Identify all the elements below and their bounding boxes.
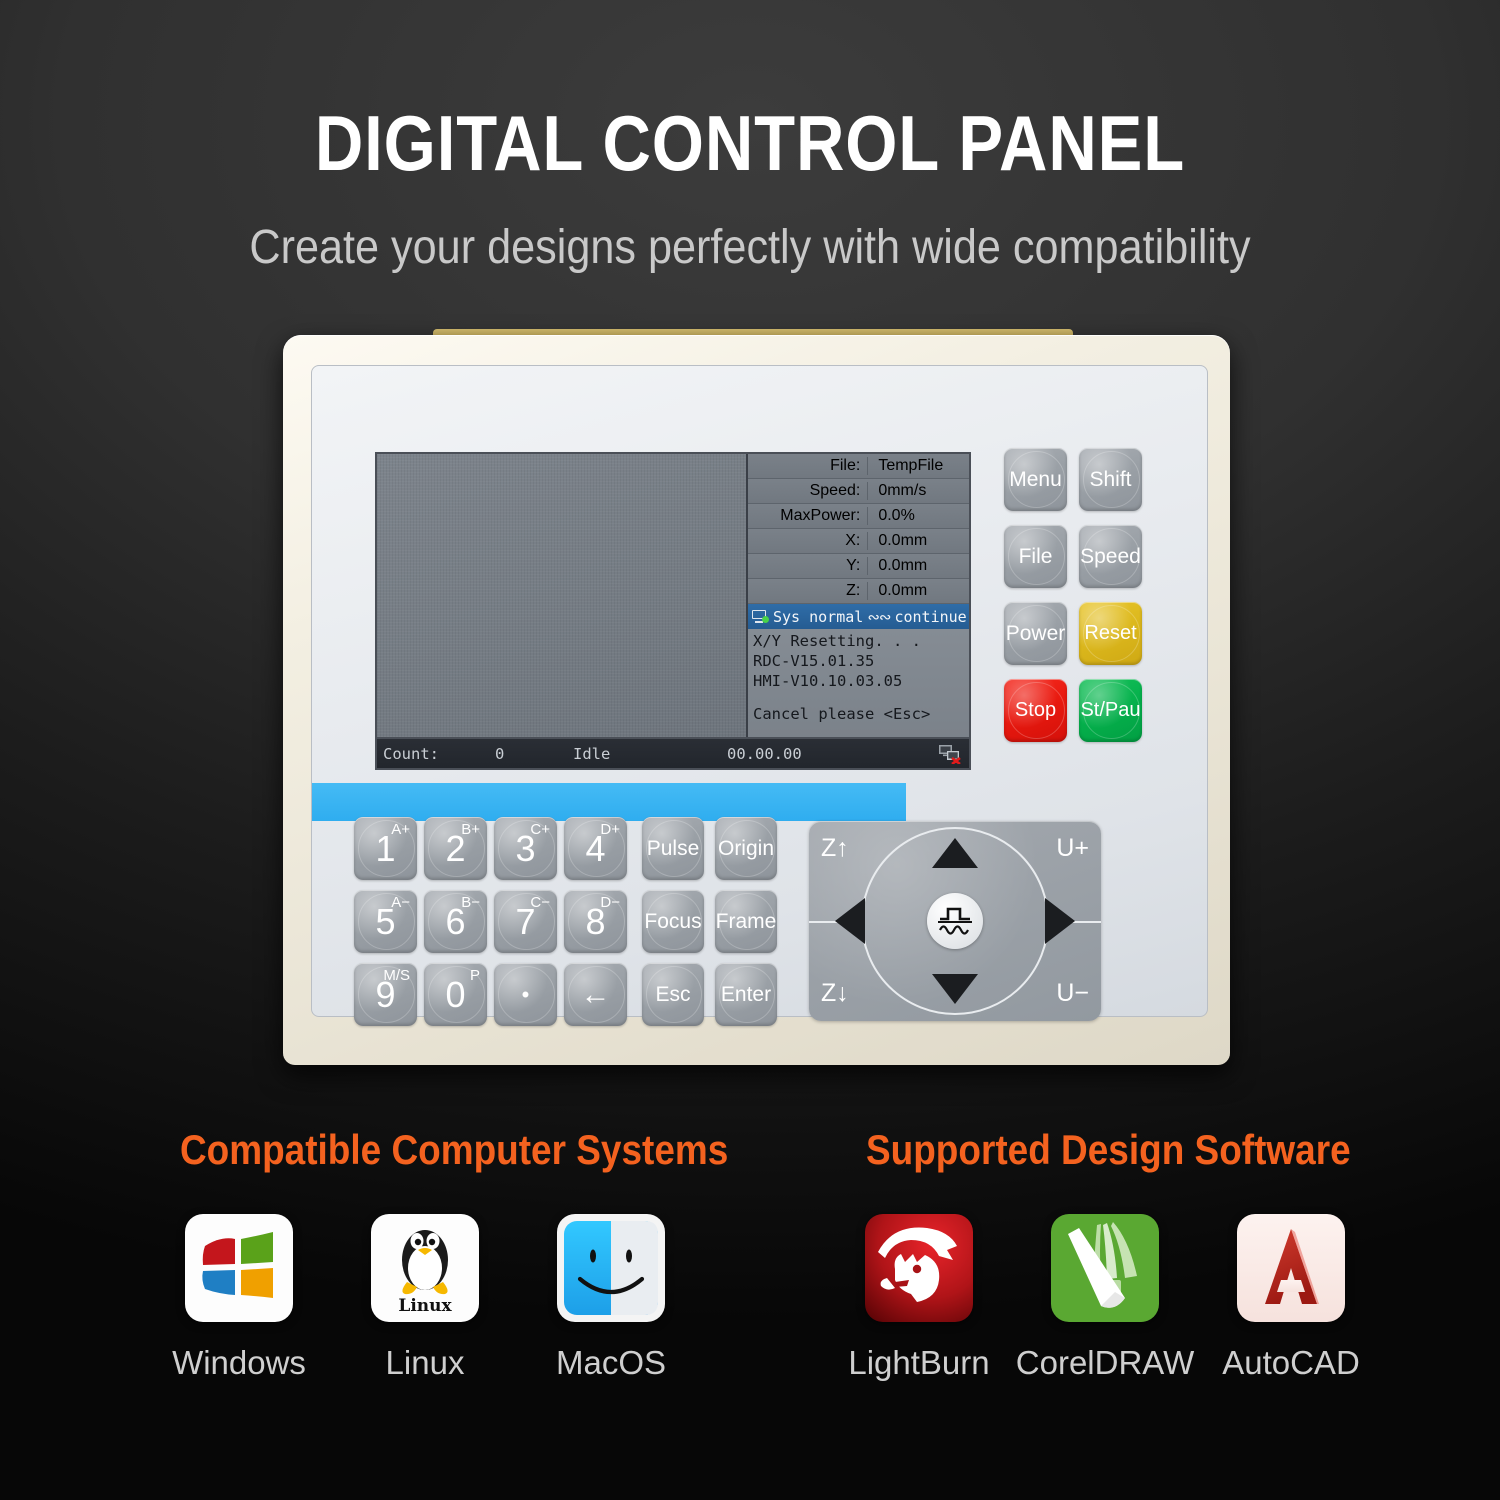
logo-item-linux: Linux Linux xyxy=(332,1214,518,1382)
logo-label: Windows xyxy=(146,1344,332,1382)
page-background: DIGITAL CONTROL PANEL Create your design… xyxy=(0,0,1500,1500)
count-value: 0 xyxy=(495,745,504,763)
key-4[interactable]: 4D+ xyxy=(564,817,627,880)
log-line: X/Y Resetting. . . xyxy=(753,632,969,652)
reset-button[interactable]: Reset xyxy=(1079,602,1142,665)
supported-software-logos: LightBurn CorelDRAW xyxy=(826,1214,1384,1382)
u-minus-button[interactable]: U− xyxy=(1056,979,1089,1008)
file-button[interactable]: File xyxy=(1004,525,1067,588)
info-value-x: 0.0mm xyxy=(867,532,969,550)
lcd-preview-canvas[interactable] xyxy=(377,454,748,737)
pulse-button[interactable]: Pulse xyxy=(642,817,704,880)
start-pause-button[interactable]: St/Pau xyxy=(1079,679,1142,742)
macos-finder-icon xyxy=(557,1214,665,1322)
count-label: Count: xyxy=(383,745,439,763)
logo-label: Linux xyxy=(332,1344,518,1382)
machine-state: Idle xyxy=(573,745,610,763)
arrow-up-button[interactable] xyxy=(932,838,978,868)
section-title-software: Supported Design Software xyxy=(866,1126,1306,1174)
lightburn-dragon-icon xyxy=(865,1214,973,1322)
logo-item-coreldraw: CorelDRAW xyxy=(1012,1214,1198,1382)
lcd-screen: File: TempFile Speed: 0mm/s MaxPower: 0.… xyxy=(375,452,971,770)
logo-item-windows: Windows xyxy=(146,1214,332,1382)
linux-tux-icon: Linux xyxy=(371,1214,479,1322)
key-backspace[interactable]: ← xyxy=(564,963,627,1026)
speed-button[interactable]: Speed xyxy=(1079,525,1142,588)
power-button[interactable]: Power xyxy=(1004,602,1067,665)
pulse-wave-icon[interactable] xyxy=(927,893,983,949)
z-down-button[interactable]: Z↓ xyxy=(821,979,849,1008)
logo-item-macos: MacOS xyxy=(518,1214,704,1382)
info-value-z: 0.0mm xyxy=(867,582,969,600)
info-label-y: Y: xyxy=(748,557,867,575)
info-row: File: TempFile xyxy=(748,454,969,479)
pc-disconnected-icon xyxy=(939,744,961,764)
arrow-down-button[interactable] xyxy=(932,974,978,1004)
autocad-a-icon xyxy=(1237,1214,1345,1322)
key-2[interactable]: 2B+ xyxy=(424,817,487,880)
shift-button[interactable]: Shift xyxy=(1079,448,1142,511)
key-8[interactable]: 8D− xyxy=(564,890,627,953)
elapsed-time: 00.00.00 xyxy=(727,745,802,763)
info-row: X: 0.0mm xyxy=(748,529,969,554)
lcd-status-bar: Count: 0 Idle 00.00.00 xyxy=(377,737,969,768)
logo-item-autocad: AutoCAD xyxy=(1198,1214,1384,1382)
info-row: MaxPower: 0.0% xyxy=(748,504,969,529)
logo-label: MacOS xyxy=(518,1344,704,1382)
page-subtitle: Create your designs perfectly with wide … xyxy=(75,222,1425,275)
info-row: Speed: 0mm/s xyxy=(748,479,969,504)
key-5[interactable]: 5A− xyxy=(354,890,417,953)
info-label-z: Z: xyxy=(748,582,867,600)
info-value-file: TempFile xyxy=(867,457,969,475)
key-0[interactable]: 0P xyxy=(424,963,487,1026)
arrow-right-button[interactable] xyxy=(1045,898,1075,944)
logo-label: AutoCAD xyxy=(1198,1344,1384,1382)
log-area: X/Y Resetting. . . RDC-V15.01.35 HMI-V10… xyxy=(748,629,969,737)
log-line: RDC-V15.01.35 xyxy=(753,652,969,672)
arrow-left-button[interactable] xyxy=(835,898,865,944)
menu-button[interactable]: Menu xyxy=(1004,448,1067,511)
system-status-bar: Sys normal ∾∾ continue xyxy=(748,604,969,629)
frame-button[interactable]: Frame xyxy=(715,890,777,953)
key-3[interactable]: 3C+ xyxy=(494,817,557,880)
u-plus-button[interactable]: U+ xyxy=(1056,834,1089,863)
key-1[interactable]: 1A+ xyxy=(354,817,417,880)
logo-label: LightBurn xyxy=(826,1344,1012,1382)
sys-continue-text: continue xyxy=(894,608,966,626)
device-faceplate: File: TempFile Speed: 0mm/s MaxPower: 0.… xyxy=(311,365,1208,1017)
info-value-speed: 0mm/s xyxy=(867,482,969,500)
control-panel-device: File: TempFile Speed: 0mm/s MaxPower: 0.… xyxy=(283,335,1230,1065)
sys-status-text: Sys normal xyxy=(773,608,863,626)
windows-logo-icon xyxy=(185,1214,293,1322)
info-value-y: 0.0mm xyxy=(867,557,969,575)
info-label-speed: Speed: xyxy=(748,482,867,500)
direction-pad: Z↑ U+ Z↓ U− xyxy=(809,821,1101,1021)
info-label-maxpower: MaxPower: xyxy=(748,507,867,525)
info-row: Y: 0.0mm xyxy=(748,554,969,579)
focus-button[interactable]: Focus xyxy=(642,890,704,953)
key-9[interactable]: 9M/S xyxy=(354,963,417,1026)
log-prompt: Cancel please <Esc> xyxy=(753,705,969,725)
z-up-button[interactable]: Z↑ xyxy=(821,834,849,863)
section-title-systems: Compatible Computer Systems xyxy=(180,1126,678,1174)
page-title: DIGITAL CONTROL PANEL xyxy=(105,104,1395,182)
key-decimal-point[interactable]: • xyxy=(494,963,557,1026)
stop-button[interactable]: Stop xyxy=(1004,679,1067,742)
monitor-ok-icon xyxy=(752,610,769,623)
log-line: HMI-V10.10.03.05 xyxy=(753,672,969,692)
info-value-maxpower: 0.0% xyxy=(867,507,969,525)
logo-label: CorelDRAW xyxy=(1012,1344,1198,1382)
wave-icon: ∾∾ xyxy=(867,608,890,626)
compatible-systems-logos: Windows Linux Linux xyxy=(146,1214,704,1382)
info-label-file: File: xyxy=(748,457,867,475)
key-7[interactable]: 7C− xyxy=(494,890,557,953)
svg-text:Linux: Linux xyxy=(398,1296,452,1316)
info-row: Z: 0.0mm xyxy=(748,579,969,604)
logo-item-lightburn: LightBurn xyxy=(826,1214,1012,1382)
enter-button[interactable]: Enter xyxy=(715,963,777,1026)
blue-accent-strip xyxy=(312,783,906,821)
coreldraw-balloon-icon xyxy=(1051,1214,1159,1322)
origin-button[interactable]: Origin xyxy=(715,817,777,880)
info-label-x: X: xyxy=(748,532,867,550)
esc-button[interactable]: Esc xyxy=(642,963,704,1026)
key-6[interactable]: 6B− xyxy=(424,890,487,953)
